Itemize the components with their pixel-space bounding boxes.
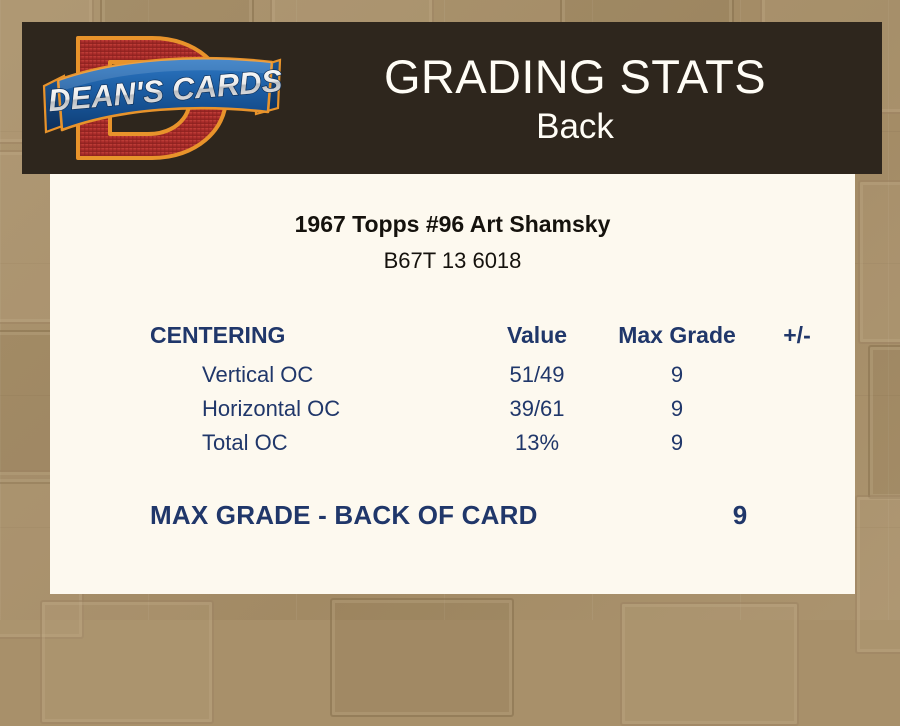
table-row: Vertical OC 51/49 9 [150, 358, 837, 392]
table-header-plus-minus: +/- [757, 318, 837, 358]
centering-stats-table: CENTERING Value Max Grade +/- Vertical O… [150, 318, 837, 460]
table-header-value: Value [477, 318, 597, 358]
row-max-grade: 9 [597, 426, 757, 460]
row-label: Vertical OC [150, 358, 477, 392]
background-card-ghost [40, 600, 214, 724]
max-grade-summary-label: MAX GRADE - BACK OF CARD [150, 500, 680, 531]
background-card-ghost [855, 495, 900, 654]
row-value: 13% [477, 426, 597, 460]
table-header-max-grade: Max Grade [597, 318, 757, 358]
table-row: Horizontal OC 39/61 9 [150, 392, 837, 426]
row-plus-minus [757, 392, 837, 426]
table-header-category: CENTERING [150, 318, 477, 358]
row-max-grade: 9 [597, 358, 757, 392]
background-card-ghost [868, 345, 900, 499]
background-card-ghost [330, 598, 514, 717]
background-card-ghost [620, 602, 799, 726]
background-card-ghost [858, 180, 900, 344]
deans-cards-logo-icon: DEAN'S CARDS [40, 28, 290, 168]
row-value: 51/49 [477, 358, 597, 392]
stats-panel: 1967 Topps #96 Art Shamsky B67T 13 6018 … [50, 174, 855, 594]
table-header-row: CENTERING Value Max Grade +/- [150, 318, 837, 358]
card-name: 1967 Topps #96 Art Shamsky [50, 211, 855, 238]
header-title-group: GRADING STATS Back [292, 53, 882, 144]
table-row: Total OC 13% 9 [150, 426, 837, 460]
row-value: 39/61 [477, 392, 597, 426]
card-code: B67T 13 6018 [50, 248, 855, 274]
row-max-grade: 9 [597, 392, 757, 426]
page-title: GRADING STATS [292, 53, 858, 100]
row-label: Horizontal OC [150, 392, 477, 426]
row-plus-minus [757, 426, 837, 460]
header-bar: DEAN'S CARDS GRADING STATS Back [22, 22, 882, 174]
max-grade-summary-value: 9 [680, 500, 800, 531]
row-plus-minus [757, 358, 837, 392]
deans-cards-logo[interactable]: DEAN'S CARDS [22, 22, 292, 174]
row-label: Total OC [150, 426, 477, 460]
max-grade-summary: MAX GRADE - BACK OF CARD 9 [150, 500, 855, 531]
page-subtitle: Back [292, 109, 858, 144]
